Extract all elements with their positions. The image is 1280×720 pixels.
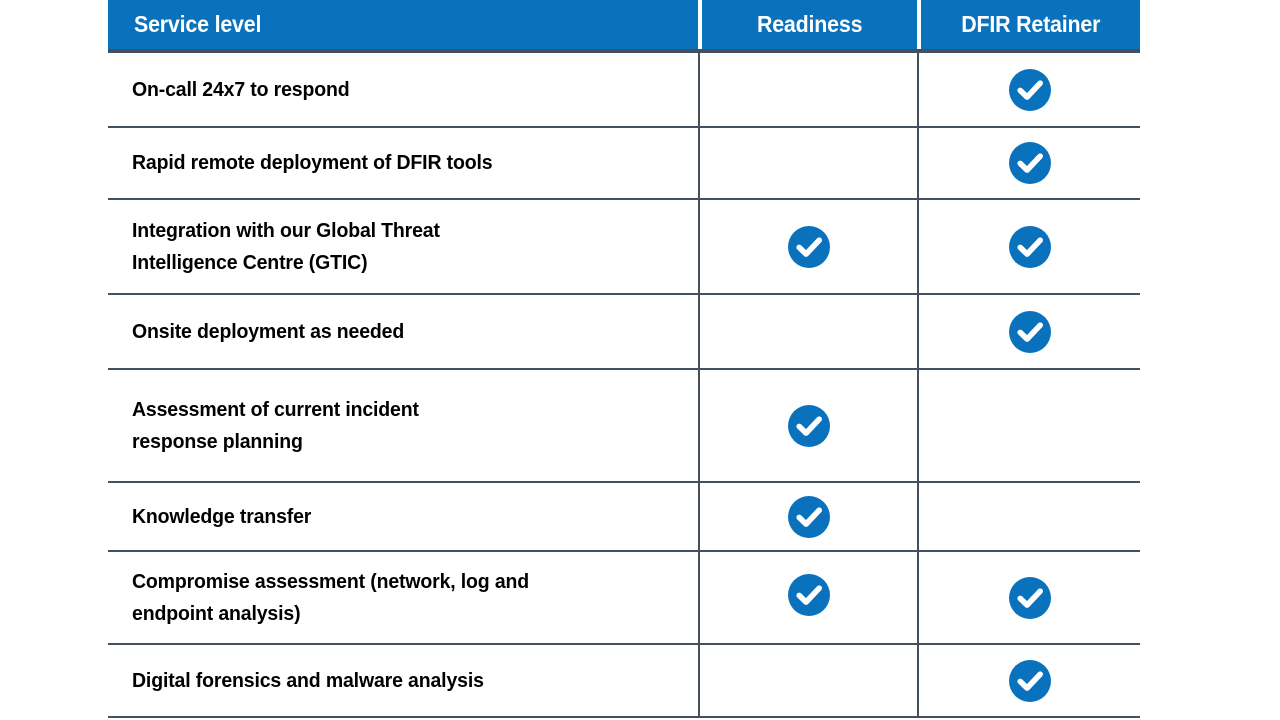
service-level-label: Assessment of current incident response … — [132, 394, 419, 458]
cell-readiness — [698, 295, 917, 368]
table-row: On-call 24x7 to respond — [108, 53, 1140, 128]
check-circle-icon — [1008, 576, 1052, 620]
column-header-dfir-retainer: DFIR Retainer — [921, 0, 1140, 49]
table-row: Knowledge transfer — [108, 483, 1140, 552]
cell-dfir-retainer — [917, 552, 1140, 643]
check-circle-icon — [787, 573, 831, 617]
service-level-label: Integration with our Global Threat Intel… — [132, 215, 440, 279]
service-level-label: Compromise assessment (network, log and … — [132, 566, 529, 630]
cell-service-level: Onsite deployment as needed — [108, 295, 698, 368]
cell-dfir-retainer — [917, 370, 1140, 481]
column-header-readiness-label: Readiness — [757, 11, 862, 38]
check-circle-icon — [1008, 141, 1052, 185]
table-row: Assessment of current incident response … — [108, 370, 1140, 483]
service-level-comparison-table: Service level Readiness DFIR Retainer On… — [108, 0, 1140, 718]
cell-service-level: Assessment of current incident response … — [108, 370, 698, 481]
column-header-readiness: Readiness — [702, 0, 917, 49]
cell-dfir-retainer — [917, 128, 1140, 198]
cell-dfir-retainer — [917, 295, 1140, 368]
table-row: Compromise assessment (network, log and … — [108, 552, 1140, 645]
check-circle-icon — [1008, 310, 1052, 354]
check-circle-icon — [787, 404, 831, 448]
service-level-label: On-call 24x7 to respond — [132, 74, 350, 106]
cell-readiness — [698, 552, 917, 643]
cell-readiness — [698, 128, 917, 198]
check-circle-icon — [1008, 659, 1052, 703]
check-circle-icon — [1008, 68, 1052, 112]
cell-service-level: Integration with our Global Threat Intel… — [108, 200, 698, 293]
cell-service-level: Compromise assessment (network, log and … — [108, 552, 698, 643]
column-header-dfir-retainer-label: DFIR Retainer — [961, 11, 1100, 38]
cell-dfir-retainer — [917, 53, 1140, 126]
cell-service-level: Knowledge transfer — [108, 483, 698, 550]
cell-dfir-retainer — [917, 645, 1140, 716]
table-row: Integration with our Global Threat Intel… — [108, 200, 1140, 295]
check-circle-icon — [787, 225, 831, 269]
table-body: On-call 24x7 to respondRapid remote depl… — [108, 53, 1140, 718]
cell-service-level: Digital forensics and malware analysis — [108, 645, 698, 716]
column-header-service-level-label: Service level — [134, 11, 261, 38]
table-row: Onsite deployment as needed — [108, 295, 1140, 370]
cell-dfir-retainer — [917, 483, 1140, 550]
service-level-label: Knowledge transfer — [132, 501, 311, 533]
service-level-label: Rapid remote deployment of DFIR tools — [132, 147, 492, 179]
cell-readiness — [698, 200, 917, 293]
service-level-label: Onsite deployment as needed — [132, 316, 404, 348]
cell-service-level: Rapid remote deployment of DFIR tools — [108, 128, 698, 198]
cell-readiness — [698, 645, 917, 716]
cell-readiness — [698, 370, 917, 481]
cell-service-level: On-call 24x7 to respond — [108, 53, 698, 126]
table-header-row: Service level Readiness DFIR Retainer — [108, 0, 1140, 53]
cell-readiness — [698, 53, 917, 126]
cell-dfir-retainer — [917, 200, 1140, 293]
check-circle-icon — [787, 495, 831, 539]
table-row: Digital forensics and malware analysis — [108, 645, 1140, 718]
table-row: Rapid remote deployment of DFIR tools — [108, 128, 1140, 200]
check-circle-icon — [1008, 225, 1052, 269]
cell-readiness — [698, 483, 917, 550]
service-level-label: Digital forensics and malware analysis — [132, 665, 484, 697]
column-header-service-level: Service level — [108, 0, 698, 49]
